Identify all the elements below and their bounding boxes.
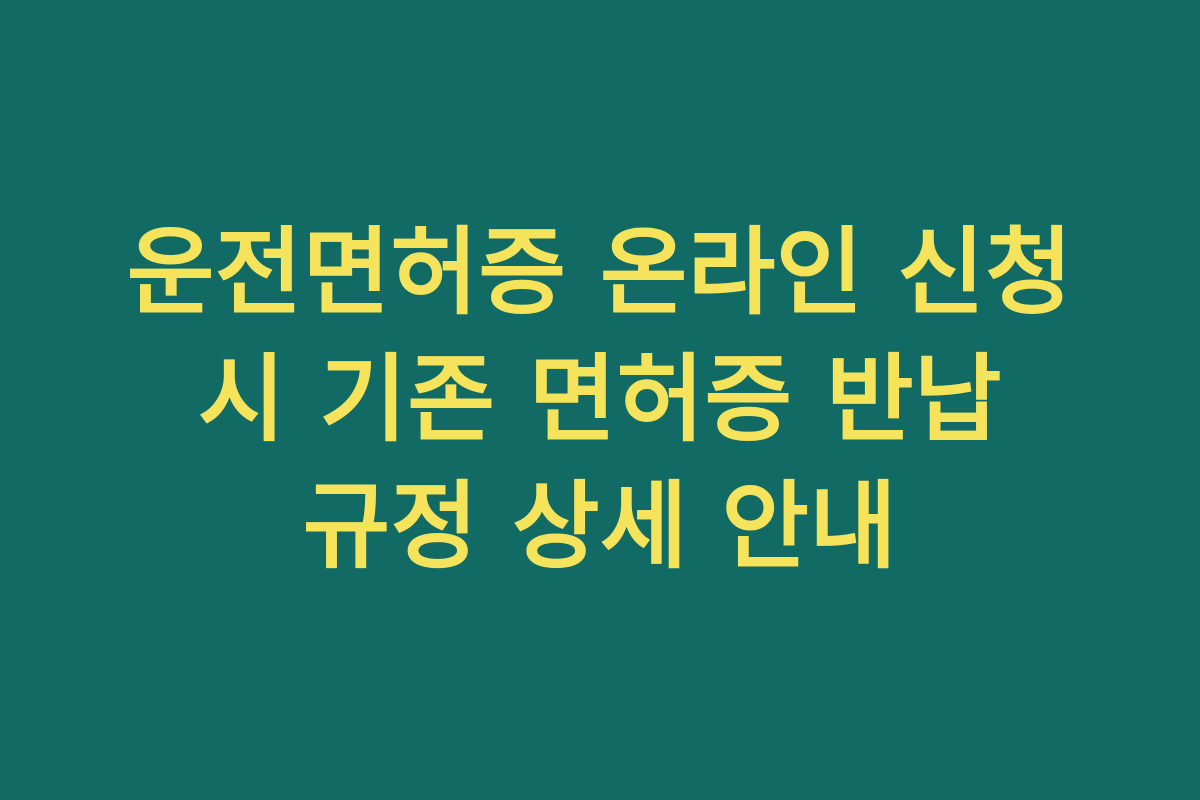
page-title: 운전면허증 온라인 신청 시 기존 면허증 반납 규정 상세 안내	[100, 210, 1100, 591]
headline-block: 운전면허증 온라인 신청 시 기존 면허증 반납 규정 상세 안내	[100, 210, 1100, 591]
title-banner: 운전면허증 온라인 신청 시 기존 면허증 반납 규정 상세 안내	[0, 0, 1200, 800]
